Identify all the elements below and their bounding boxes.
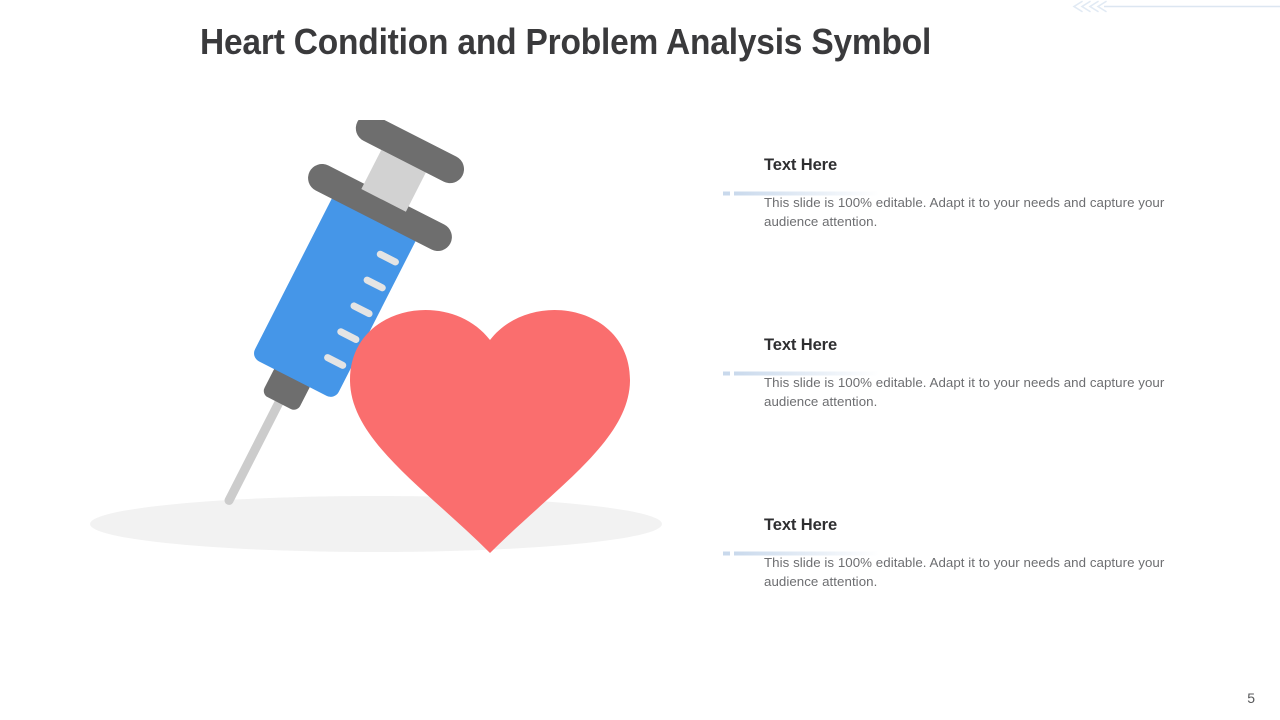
chevrons-left-icon xyxy=(1060,0,1280,14)
text-block-body: This slide is 100% editable. Adapt it to… xyxy=(764,374,1176,411)
text-block-body: This slide is 100% editable. Adapt it to… xyxy=(764,554,1176,591)
text-block-body: This slide is 100% editable. Adapt it to… xyxy=(764,194,1176,231)
text-block-list: Text Here This slide is 100% editable. A… xyxy=(723,156,1193,696)
text-block-divider xyxy=(723,363,903,368)
syringe-needle xyxy=(223,395,285,506)
text-block-heading: Text Here xyxy=(764,336,837,355)
top-right-decoration xyxy=(1060,0,1280,14)
text-block-heading: Text Here xyxy=(764,156,837,175)
text-block-divider xyxy=(723,183,903,188)
page-number: 5 xyxy=(1247,690,1255,706)
text-block-1: Text Here This slide is 100% editable. A… xyxy=(723,156,1193,336)
text-block-divider xyxy=(723,543,903,548)
text-block-3: Text Here This slide is 100% editable. A… xyxy=(723,516,1193,696)
ground-shadow-ellipse xyxy=(90,496,662,552)
syringe-and-heart-illustration xyxy=(60,120,700,580)
page-title: Heart Condition and Problem Analysis Sym… xyxy=(200,18,1037,66)
text-block-2: Text Here This slide is 100% editable. A… xyxy=(723,336,1193,516)
illustration-svg xyxy=(60,120,700,580)
text-block-heading: Text Here xyxy=(764,516,837,535)
